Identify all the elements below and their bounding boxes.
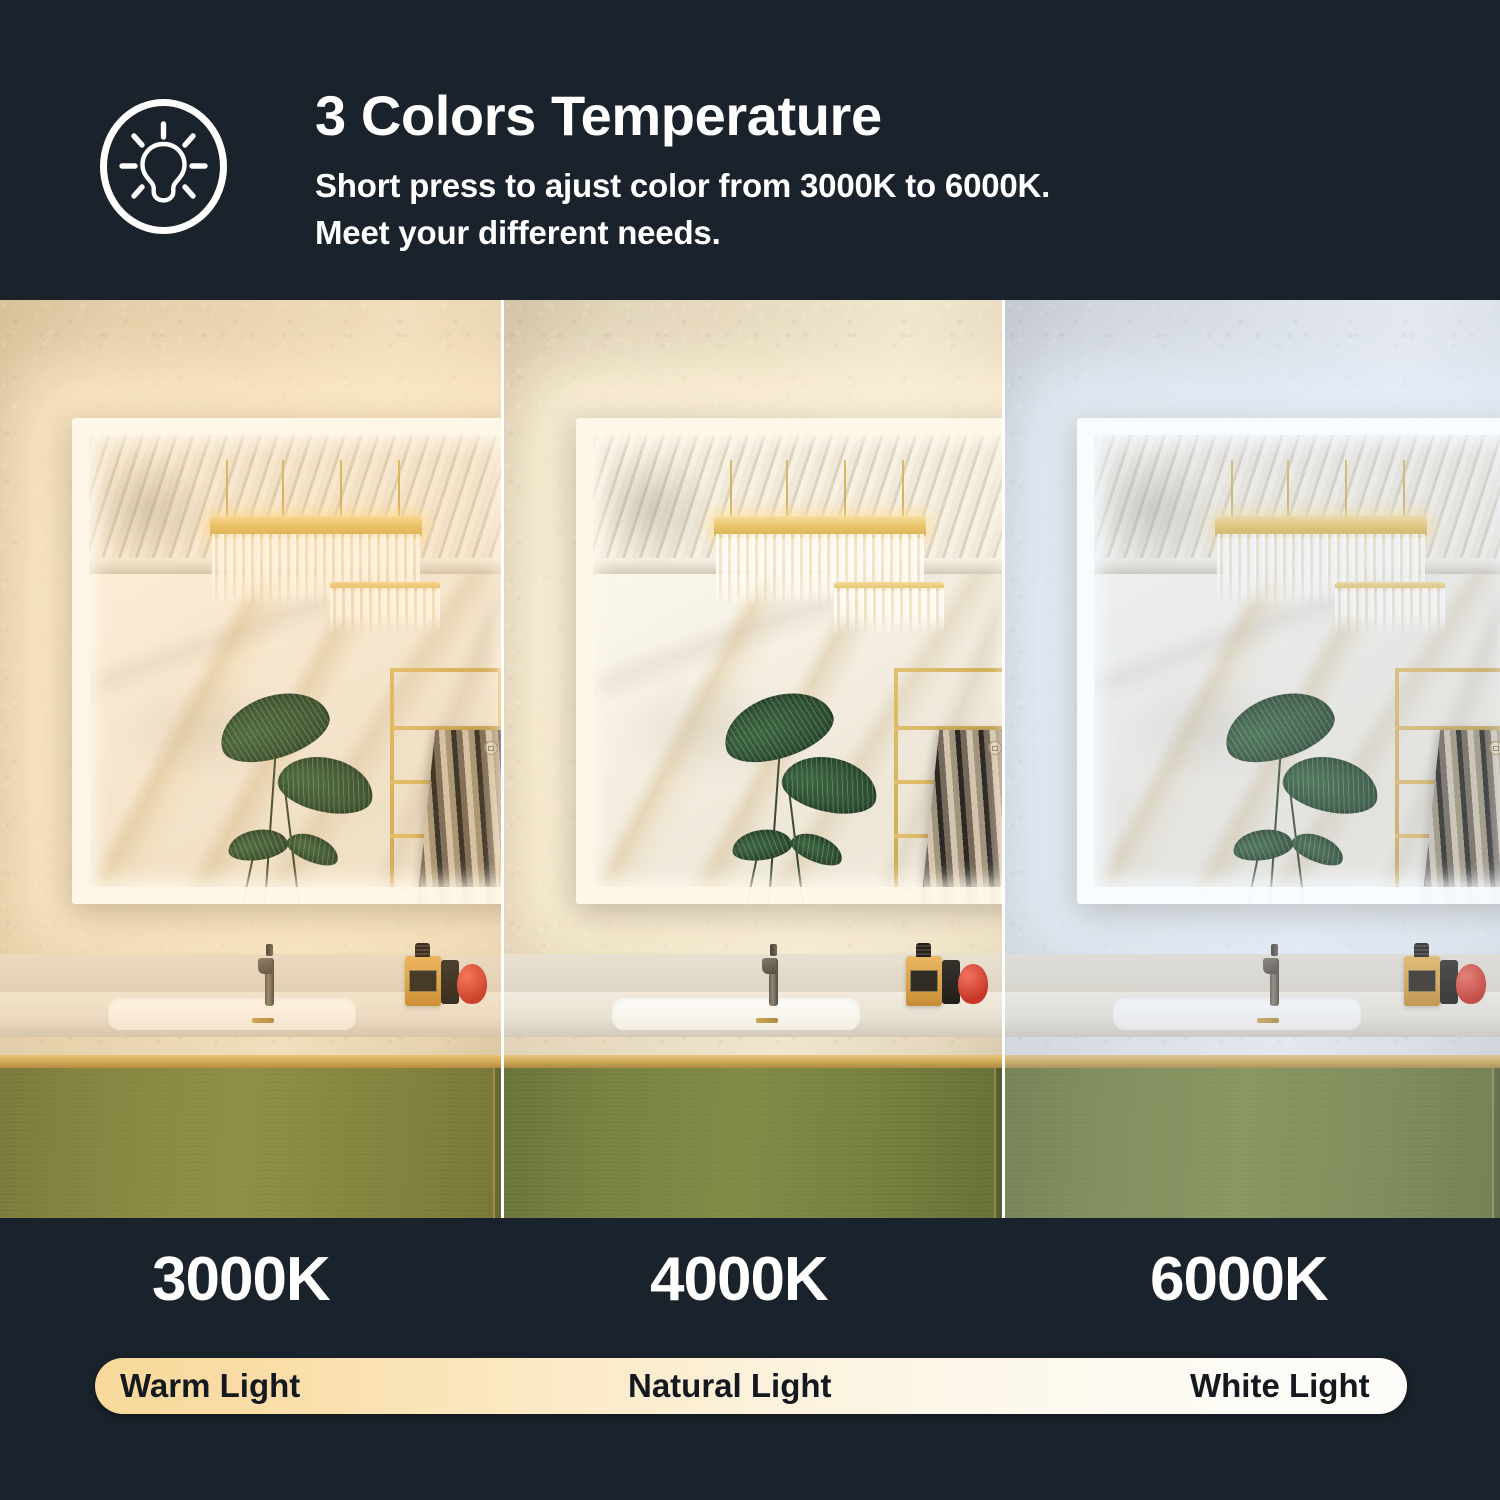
sink-basin [108,998,356,1030]
bathroom-scene-white [1005,300,1500,1218]
striped-towel [921,730,1002,904]
palm-plant [212,654,392,904]
sink-overflow [252,1018,274,1023]
perfume-bottle-amber [1404,956,1440,1006]
striped-towel [1422,730,1500,904]
perfume-bottle-amber [405,956,441,1006]
palm-plant [716,654,896,904]
sink-basin [612,998,860,1030]
led-mirror [72,418,501,904]
color-temperature-gradient-bar: Warm Light Natural Light White Light [95,1358,1407,1414]
defogger-touch-button[interactable] [988,741,1002,755]
kelvin-label-3000k: 3000K [152,1244,330,1315]
palm-shadow [1087,448,1217,568]
perfume-bottle-amber [906,956,942,1006]
cabinet-side [994,1068,1002,1218]
cabinet-gold-trim [1005,1055,1500,1068]
bathroom-scene-warm [0,300,501,1218]
gold-towel-ladder [386,668,501,900]
palm-plant [1217,654,1397,904]
palm-shadow [82,448,212,568]
white-light-panel [1005,300,1500,1218]
bathroom-scene-natural [504,300,1002,1218]
green-vanity-cabinet [0,1055,501,1218]
page-title: 3 Colors Temperature [315,84,1415,149]
led-mirror [576,418,1002,904]
perfume-bottle-red [457,964,487,1004]
crystal-chandelier [192,460,442,660]
header-subtitle-line-2: Meet your different needs. [315,210,1415,257]
striped-towel [417,730,501,904]
header-subtitle: Short press to ajust color from 3000K to… [315,163,1415,257]
warm-light-label: Warm Light [120,1358,300,1414]
cabinet-gold-trim [504,1055,1002,1068]
natural-light-panel [504,300,1002,1218]
header-subtitle-line-1: Short press to ajust color from 3000K to… [315,163,1415,210]
defogger-touch-button[interactable] [1489,741,1500,755]
defogger-touch-button[interactable] [484,741,498,755]
crystal-chandelier [1197,460,1447,660]
footer-legend: 3000K 4000K 6000K Warm Light Natural Lig… [0,1218,1500,1500]
cabinet-side [493,1068,501,1218]
warm-light-panel [0,300,501,1218]
bronze-faucet [762,944,784,1006]
header-text-block: 3 Colors Temperature Short press to ajus… [315,84,1415,257]
bronze-faucet [1263,944,1285,1006]
led-mirror [1077,418,1500,904]
cabinet-front [0,1068,501,1218]
sink-overflow [1257,1018,1279,1023]
comparison-panels [0,300,1500,1218]
green-vanity-cabinet [1005,1055,1500,1218]
mirror-reflection [1077,418,1500,904]
cabinet-gold-trim [0,1055,501,1068]
lightbulb-rays-icon [95,98,232,235]
kelvin-label-4000k: 4000K [650,1244,828,1315]
mirror-reflection [576,418,1002,904]
natural-light-label: Natural Light [628,1358,832,1414]
gold-towel-ladder [890,668,1002,900]
perfume-bottle-red [1456,964,1486,1004]
mirror-touch-controls[interactable] [988,740,1002,756]
cabinet-front [504,1068,1002,1218]
palm-shadow [586,448,716,568]
header-banner: 3 Colors Temperature Short press to ajus… [0,0,1500,300]
mirror-touch-controls[interactable] [484,740,501,756]
sink-overflow [756,1018,778,1023]
mirror-reflection [72,418,501,904]
mirror-touch-controls[interactable] [1489,740,1500,756]
bronze-faucet [258,944,280,1006]
crystal-chandelier [696,460,946,660]
kelvin-label-6000k: 6000K [1150,1244,1328,1315]
vanity-counter [1005,940,1500,1055]
cabinet-side [1492,1068,1500,1218]
cabinet-front [1005,1068,1500,1218]
vanity-counter [0,940,501,1055]
kelvin-labels-row: 3000K 4000K 6000K [0,1244,1500,1314]
gold-towel-ladder [1391,668,1500,900]
white-light-label: White Light [1190,1358,1370,1414]
perfume-bottle-red [958,964,988,1004]
sink-basin [1113,998,1361,1030]
vanity-counter [504,940,1002,1055]
green-vanity-cabinet [504,1055,1002,1218]
